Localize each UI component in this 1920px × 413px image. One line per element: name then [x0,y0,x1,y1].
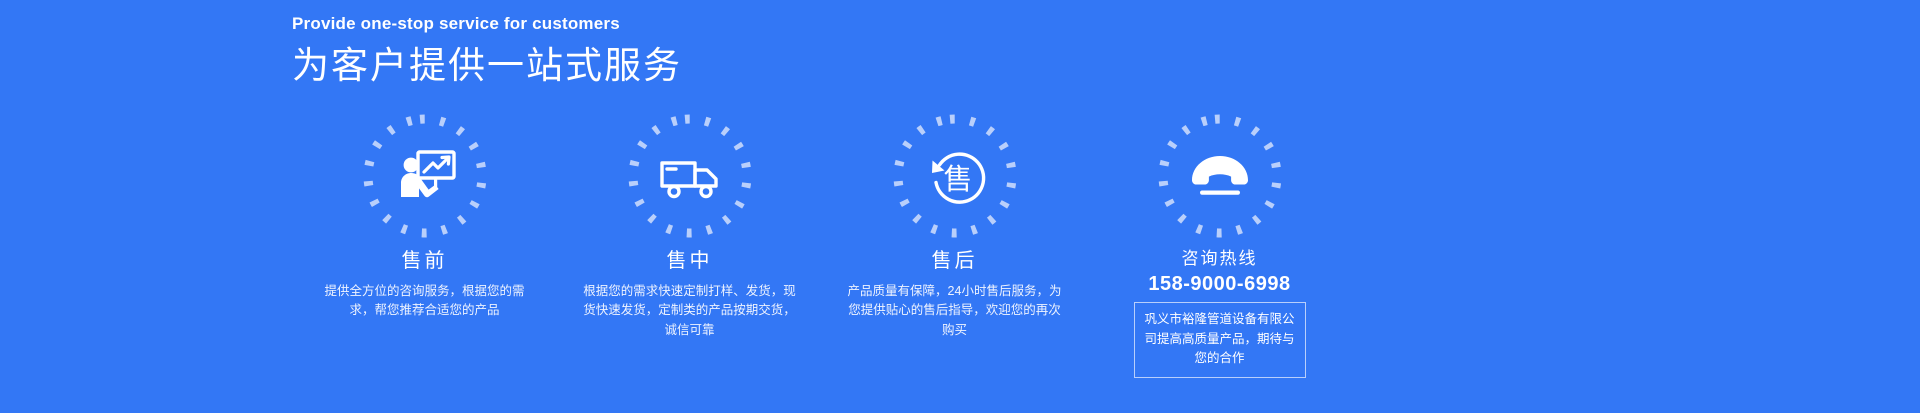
presenter-whiteboard-icon [388,139,462,213]
hotline-number[interactable]: 158-9000-6998 [1148,272,1290,296]
service-column-aftersale: 售 售后 产品质量有保障，24小时售后服务，为您提供贴心的售后指导，欢迎您的再次… [822,112,1087,378]
telephone-icon [1183,139,1257,213]
service-column-presale: 售前 提供全方位的咨询服务，根据您的需求，帮您推荐合适您的产品 [292,112,557,378]
svg-text:售: 售 [943,163,972,196]
service-title: 售中 [667,249,713,273]
icon-ring-aftersale: 售 [891,112,1019,240]
banner-title: 为客户提供一站式服务 [292,45,682,88]
service-columns: 售前 提供全方位的咨询服务，根据您的需求，帮您推荐合适您的产品 [292,112,1352,378]
service-title: 售后 [932,249,978,273]
service-banner: Provide one-stop service for customers 为… [0,0,1920,413]
service-column-insale: 售中 根据您的需求快速定制打样、发货，现货快速发货，定制类的产品按期交货，诚信可… [557,112,822,378]
service-column-hotline: 咨询热线 158-9000-6998 巩义市裕隆管道设备有限公司提高高质量产品，… [1087,112,1352,378]
icon-ring-insale [626,112,754,240]
icon-ring-presale [361,112,489,240]
service-desc: 根据您的需求快速定制打样、发货，现货快速发货，定制类的产品按期交货，诚信可靠 [582,282,797,340]
delivery-truck-icon [653,139,727,213]
service-desc: 产品质量有保障，24小时售后服务，为您提供贴心的售后指导，欢迎您的再次购买 [847,282,1062,340]
company-note-box: 巩义市裕隆管道设备有限公司提高高质量产品，期待与您的合作 [1134,302,1306,377]
icon-ring-hotline [1156,112,1284,240]
service-desc: 提供全方位的咨询服务，根据您的需求，帮您推荐合适您的产品 [317,282,532,321]
banner-eyebrow: Provide one-stop service for customers [292,14,682,34]
hotline-label: 咨询热线 [1182,249,1258,269]
after-sales-refresh-icon: 售 [918,139,992,213]
service-title: 售前 [402,249,448,273]
banner-header: Provide one-stop service for customers 为… [292,14,682,88]
